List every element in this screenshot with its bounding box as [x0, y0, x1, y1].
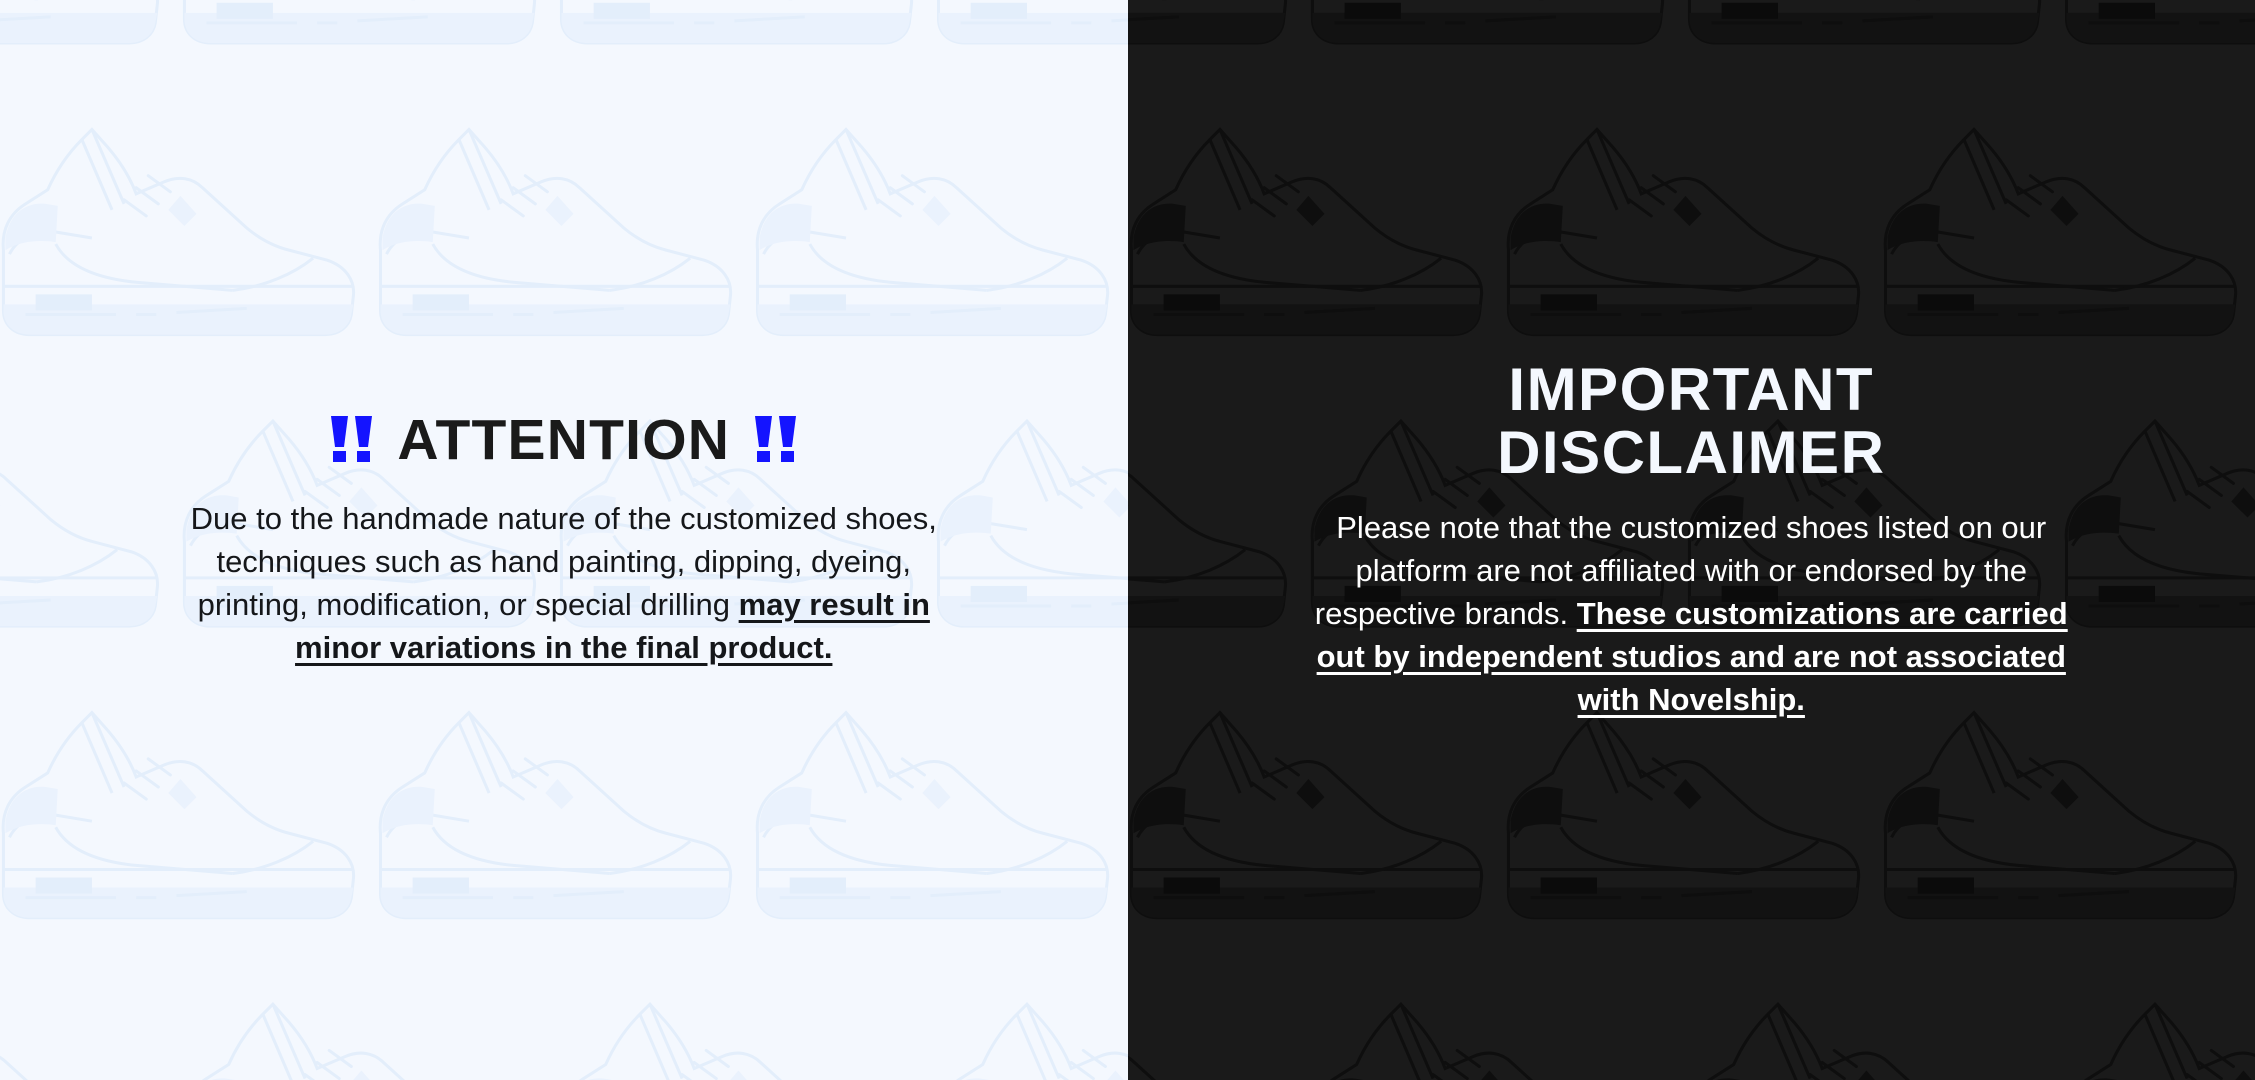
attention-heading-text: ATTENTION [397, 411, 730, 471]
attention-content: ATTENTION Due to the handmade nature of … [0, 411, 1128, 669]
attention-body: Due to the handmade nature of the custom… [184, 497, 944, 669]
double-exclamation-icon-right [754, 416, 797, 462]
disclaimer-panel: IMPORTANT DISCLAIMER Please note that th… [1128, 0, 2255, 1080]
attention-heading: ATTENTION [40, 411, 1088, 471]
attention-panel: ATTENTION Due to the handmade nature of … [0, 0, 1128, 1080]
disclaimer-heading: IMPORTANT DISCLAIMER [1168, 359, 2216, 484]
disclaimer-heading-line1: IMPORTANT [1168, 359, 2216, 421]
disclaimer-body: Please note that the customized shoes li… [1296, 506, 2086, 721]
disclaimer-banner: ATTENTION Due to the handmade nature of … [0, 0, 2255, 1080]
double-exclamation-icon-left [330, 416, 373, 462]
disclaimer-content: IMPORTANT DISCLAIMER Please note that th… [1128, 359, 2255, 721]
disclaimer-heading-line2: DISCLAIMER [1168, 422, 2216, 484]
